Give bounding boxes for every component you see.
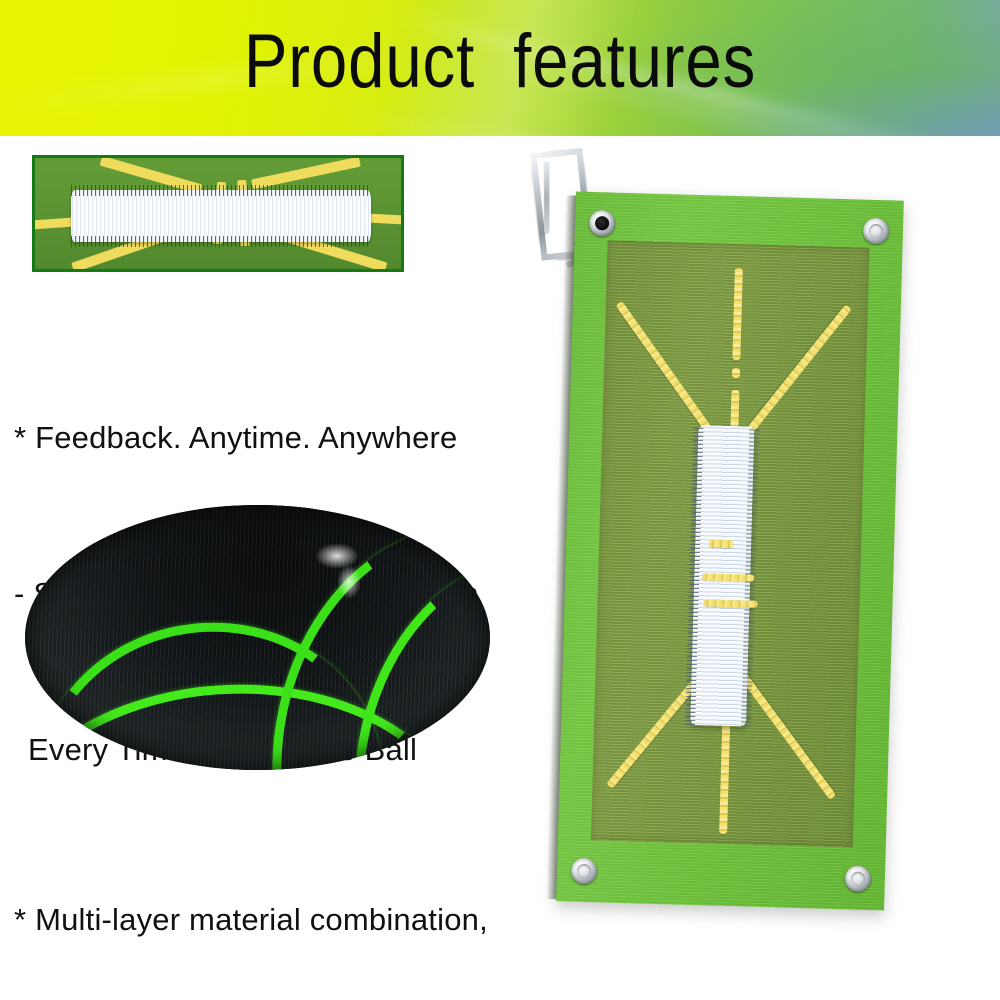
- inset-photo-material-layers: [25, 505, 490, 770]
- feature-line: * Feedback. Anytime. Anywhere: [14, 412, 534, 464]
- strike-pad: [71, 190, 371, 242]
- grommet-hole: [577, 864, 591, 878]
- alignment-line-center: [732, 368, 740, 378]
- page-title: Product features: [70, 14, 930, 110]
- inset-photo-strike-strip: [32, 155, 404, 272]
- mat-border: [556, 192, 904, 911]
- feature-line: * Multi-layer material combination,: [14, 894, 554, 946]
- grommet-hole: [869, 224, 883, 238]
- carabiner-gate: [544, 162, 549, 234]
- product-features-page: Product features * Feedback. Anytime. An…: [0, 0, 1000, 1000]
- product-photo-main: [556, 192, 904, 911]
- ellipse-vignette: [25, 505, 490, 770]
- alignment-mark: [709, 539, 733, 548]
- alignment-mark: [703, 599, 757, 608]
- grommet-hole: [595, 216, 609, 230]
- grommet-hole: [851, 872, 865, 886]
- feature-text-block-2: * Multi-layer material combination, stro…: [14, 790, 554, 1000]
- mat-turf-surface: [591, 240, 870, 847]
- alignment-mark: [702, 573, 754, 581]
